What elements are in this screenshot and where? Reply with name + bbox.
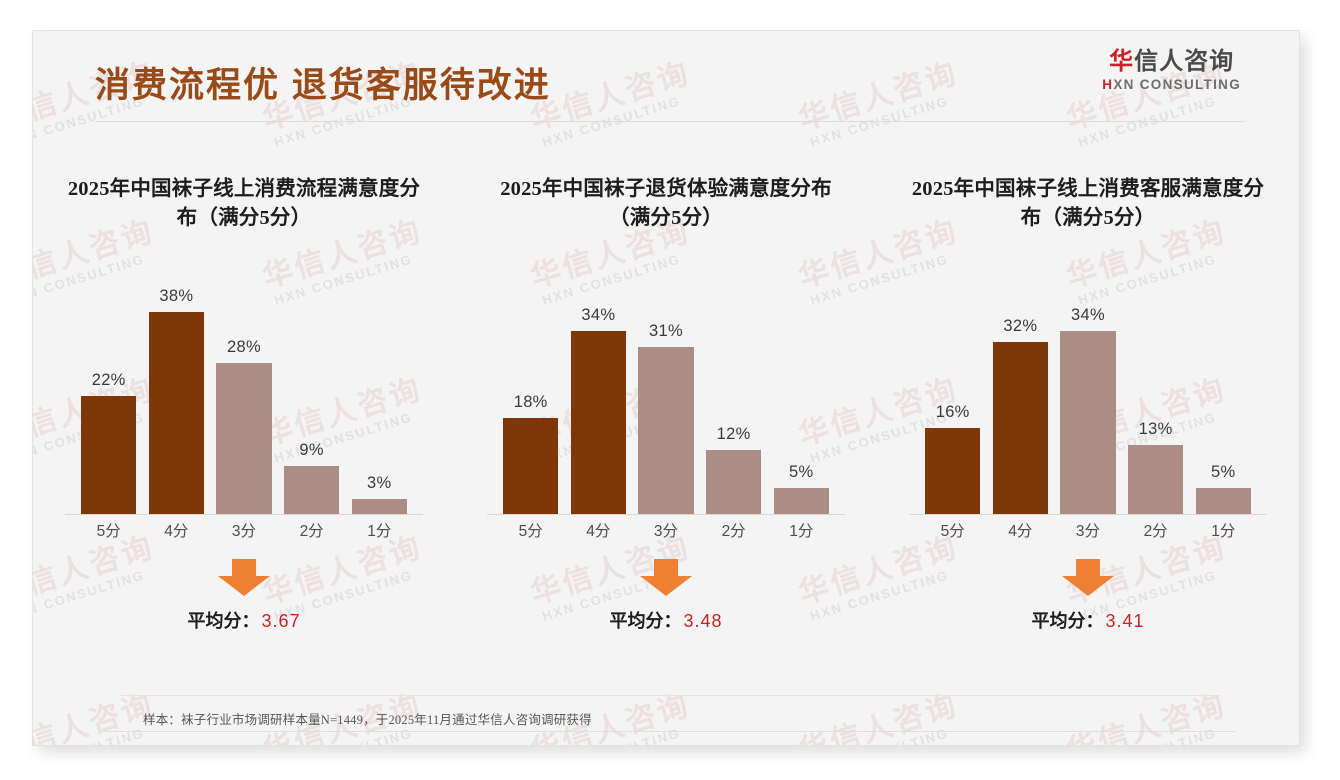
average-block: 平均分：3.67 — [47, 559, 441, 633]
x-axis-line — [909, 514, 1267, 515]
average-score: 平均分：3.67 — [187, 607, 300, 633]
category-label: 2分 — [1128, 519, 1183, 541]
category-label: 2分 — [706, 519, 761, 541]
slide-canvas: 华信人咨询HXN CONSULTING华信人咨询HXN CONSULTING华信… — [32, 30, 1300, 746]
bar — [1060, 331, 1115, 516]
plot-area: 16%32%34%13%5%5分4分3分2分1分 — [891, 243, 1285, 543]
x-axis-line — [65, 514, 423, 515]
category-label: 1分 — [352, 519, 407, 541]
bar-value-label: 38% — [159, 287, 193, 306]
bars-group: 22%38%28%9%3% — [81, 287, 407, 515]
watermark-mark: 华信人咨询HXN CONSULTING — [792, 680, 966, 745]
category-label: 3分 — [638, 519, 693, 541]
bar — [774, 488, 829, 515]
category-label: 5分 — [925, 519, 980, 541]
category-label: 4分 — [993, 519, 1048, 541]
bar — [638, 347, 693, 515]
category-label: 2分 — [284, 519, 339, 541]
category-axis: 5分4分3分2分1分 — [503, 517, 829, 543]
bar-column: 28% — [216, 287, 271, 515]
chart-title: 2025年中国袜子线上消费客服满意度分布（满分5分） — [891, 151, 1285, 233]
bar-value-label: 3% — [367, 474, 391, 493]
bars-group: 16%32%34%13%5% — [925, 287, 1251, 515]
average-score: 平均分：3.41 — [1031, 607, 1144, 633]
category-label: 5分 — [81, 519, 136, 541]
bar-value-label: 34% — [581, 306, 615, 325]
bar-column: 22% — [81, 287, 136, 515]
bar — [993, 342, 1048, 516]
category-label: 3分 — [216, 519, 271, 541]
bar-value-label: 9% — [299, 441, 323, 460]
bar-value-label: 12% — [717, 425, 751, 444]
bar — [925, 428, 980, 515]
average-score: 平均分：3.48 — [609, 607, 722, 633]
logo-chinese: 华信人咨询 — [1102, 49, 1241, 74]
bar-column: 31% — [638, 287, 693, 515]
footnote-divider-top — [121, 695, 1221, 696]
bar-column: 34% — [1060, 287, 1115, 515]
chart-panel-1: 2025年中国袜子线上消费流程满意度分布（满分5分）22%38%28%9%3%5… — [33, 151, 455, 661]
bar-column: 5% — [1196, 287, 1251, 515]
chart-title: 2025年中国袜子线上消费流程满意度分布（满分5分） — [47, 151, 441, 233]
bar-column: 16% — [925, 287, 980, 515]
chart-panel-2: 2025年中国袜子退货体验满意度分布（满分5分）18%34%31%12%5%5分… — [455, 151, 877, 661]
average-block: 平均分：3.41 — [891, 559, 1285, 633]
footnote-text: 样本：袜子行业市场调研样本量N=1449，于2025年11月通过华信人咨询调研获… — [143, 709, 592, 728]
bar — [706, 450, 761, 515]
bar-value-label: 31% — [649, 322, 683, 341]
logo-en-rest: XN CONSULTING — [1113, 77, 1241, 92]
bar-value-label: 16% — [936, 403, 970, 422]
bar-column: 3% — [352, 287, 407, 515]
plot-area: 18%34%31%12%5%5分4分3分2分1分 — [469, 243, 863, 543]
bar-column: 38% — [149, 287, 204, 515]
average-value: 3.41 — [1105, 611, 1144, 631]
slide-footer: ©2026.1 HXR华信人咨询 www.hxrcon.com — [33, 737, 1299, 746]
bar — [284, 466, 339, 515]
bar — [81, 396, 136, 515]
chart-panel-3: 2025年中国袜子线上消费客服满意度分布（满分5分）16%32%34%13%5%… — [877, 151, 1299, 661]
category-label: 4分 — [149, 519, 204, 541]
average-label: 平均分： — [1031, 611, 1103, 631]
category-label: 1分 — [1196, 519, 1251, 541]
page-title: 消费流程优 退货客服待改进 — [95, 57, 551, 108]
bar-column: 18% — [503, 287, 558, 515]
bar-value-label: 22% — [92, 371, 126, 390]
bar-column: 13% — [1128, 287, 1183, 515]
logo-hua-char: 华 — [1109, 48, 1134, 75]
x-axis-line — [487, 514, 845, 515]
bar-value-label: 32% — [1003, 317, 1037, 336]
bars-group: 18%34%31%12%5% — [503, 287, 829, 515]
chart-title: 2025年中国袜子退货体验满意度分布（满分5分） — [469, 151, 863, 233]
category-label: 3分 — [1060, 519, 1115, 541]
watermark-mark: 华信人咨询HXN CONSULTING — [1060, 680, 1234, 745]
slide-header: 消费流程优 退货客服待改进 华信人咨询 HXN CONSULTING — [33, 31, 1299, 123]
bar-value-label: 28% — [227, 338, 261, 357]
bar — [503, 418, 558, 516]
plot-area: 22%38%28%9%3%5分4分3分2分1分 — [47, 243, 441, 543]
charts-row: 2025年中国袜子线上消费流程满意度分布（满分5分）22%38%28%9%3%5… — [33, 151, 1299, 661]
category-axis: 5分4分3分2分1分 — [81, 517, 407, 543]
header-divider — [95, 121, 1245, 122]
bar-value-label: 13% — [1139, 420, 1173, 439]
company-logo: 华信人咨询 HXN CONSULTING — [1102, 49, 1241, 92]
bar-column: 5% — [774, 287, 829, 515]
bar — [352, 499, 407, 515]
bar-column: 32% — [993, 287, 1048, 515]
bar-column: 9% — [284, 287, 339, 515]
logo-english: HXN CONSULTING — [1102, 77, 1241, 92]
average-value: 3.67 — [261, 611, 300, 631]
bar — [1128, 445, 1183, 516]
bar — [571, 331, 626, 516]
logo-en-accent: H — [1102, 77, 1113, 92]
bar-column: 34% — [571, 287, 626, 515]
average-block: 平均分：3.48 — [469, 559, 863, 633]
bar-value-label: 34% — [1071, 306, 1105, 325]
average-label: 平均分： — [609, 611, 681, 631]
category-label: 1分 — [774, 519, 829, 541]
average-label: 平均分： — [187, 611, 259, 631]
bar-value-label: 5% — [789, 463, 813, 482]
bar — [1196, 488, 1251, 515]
footer-divider — [105, 731, 1235, 732]
bar — [149, 312, 204, 515]
category-label: 5分 — [503, 519, 558, 541]
category-label: 4分 — [571, 519, 626, 541]
bar-column: 12% — [706, 287, 761, 515]
bar — [216, 363, 271, 515]
logo-cn-rest: 信人咨询 — [1134, 48, 1234, 75]
average-value: 3.48 — [683, 611, 722, 631]
category-axis: 5分4分3分2分1分 — [925, 517, 1251, 543]
bar-value-label: 18% — [514, 393, 548, 412]
bar-value-label: 5% — [1211, 463, 1235, 482]
